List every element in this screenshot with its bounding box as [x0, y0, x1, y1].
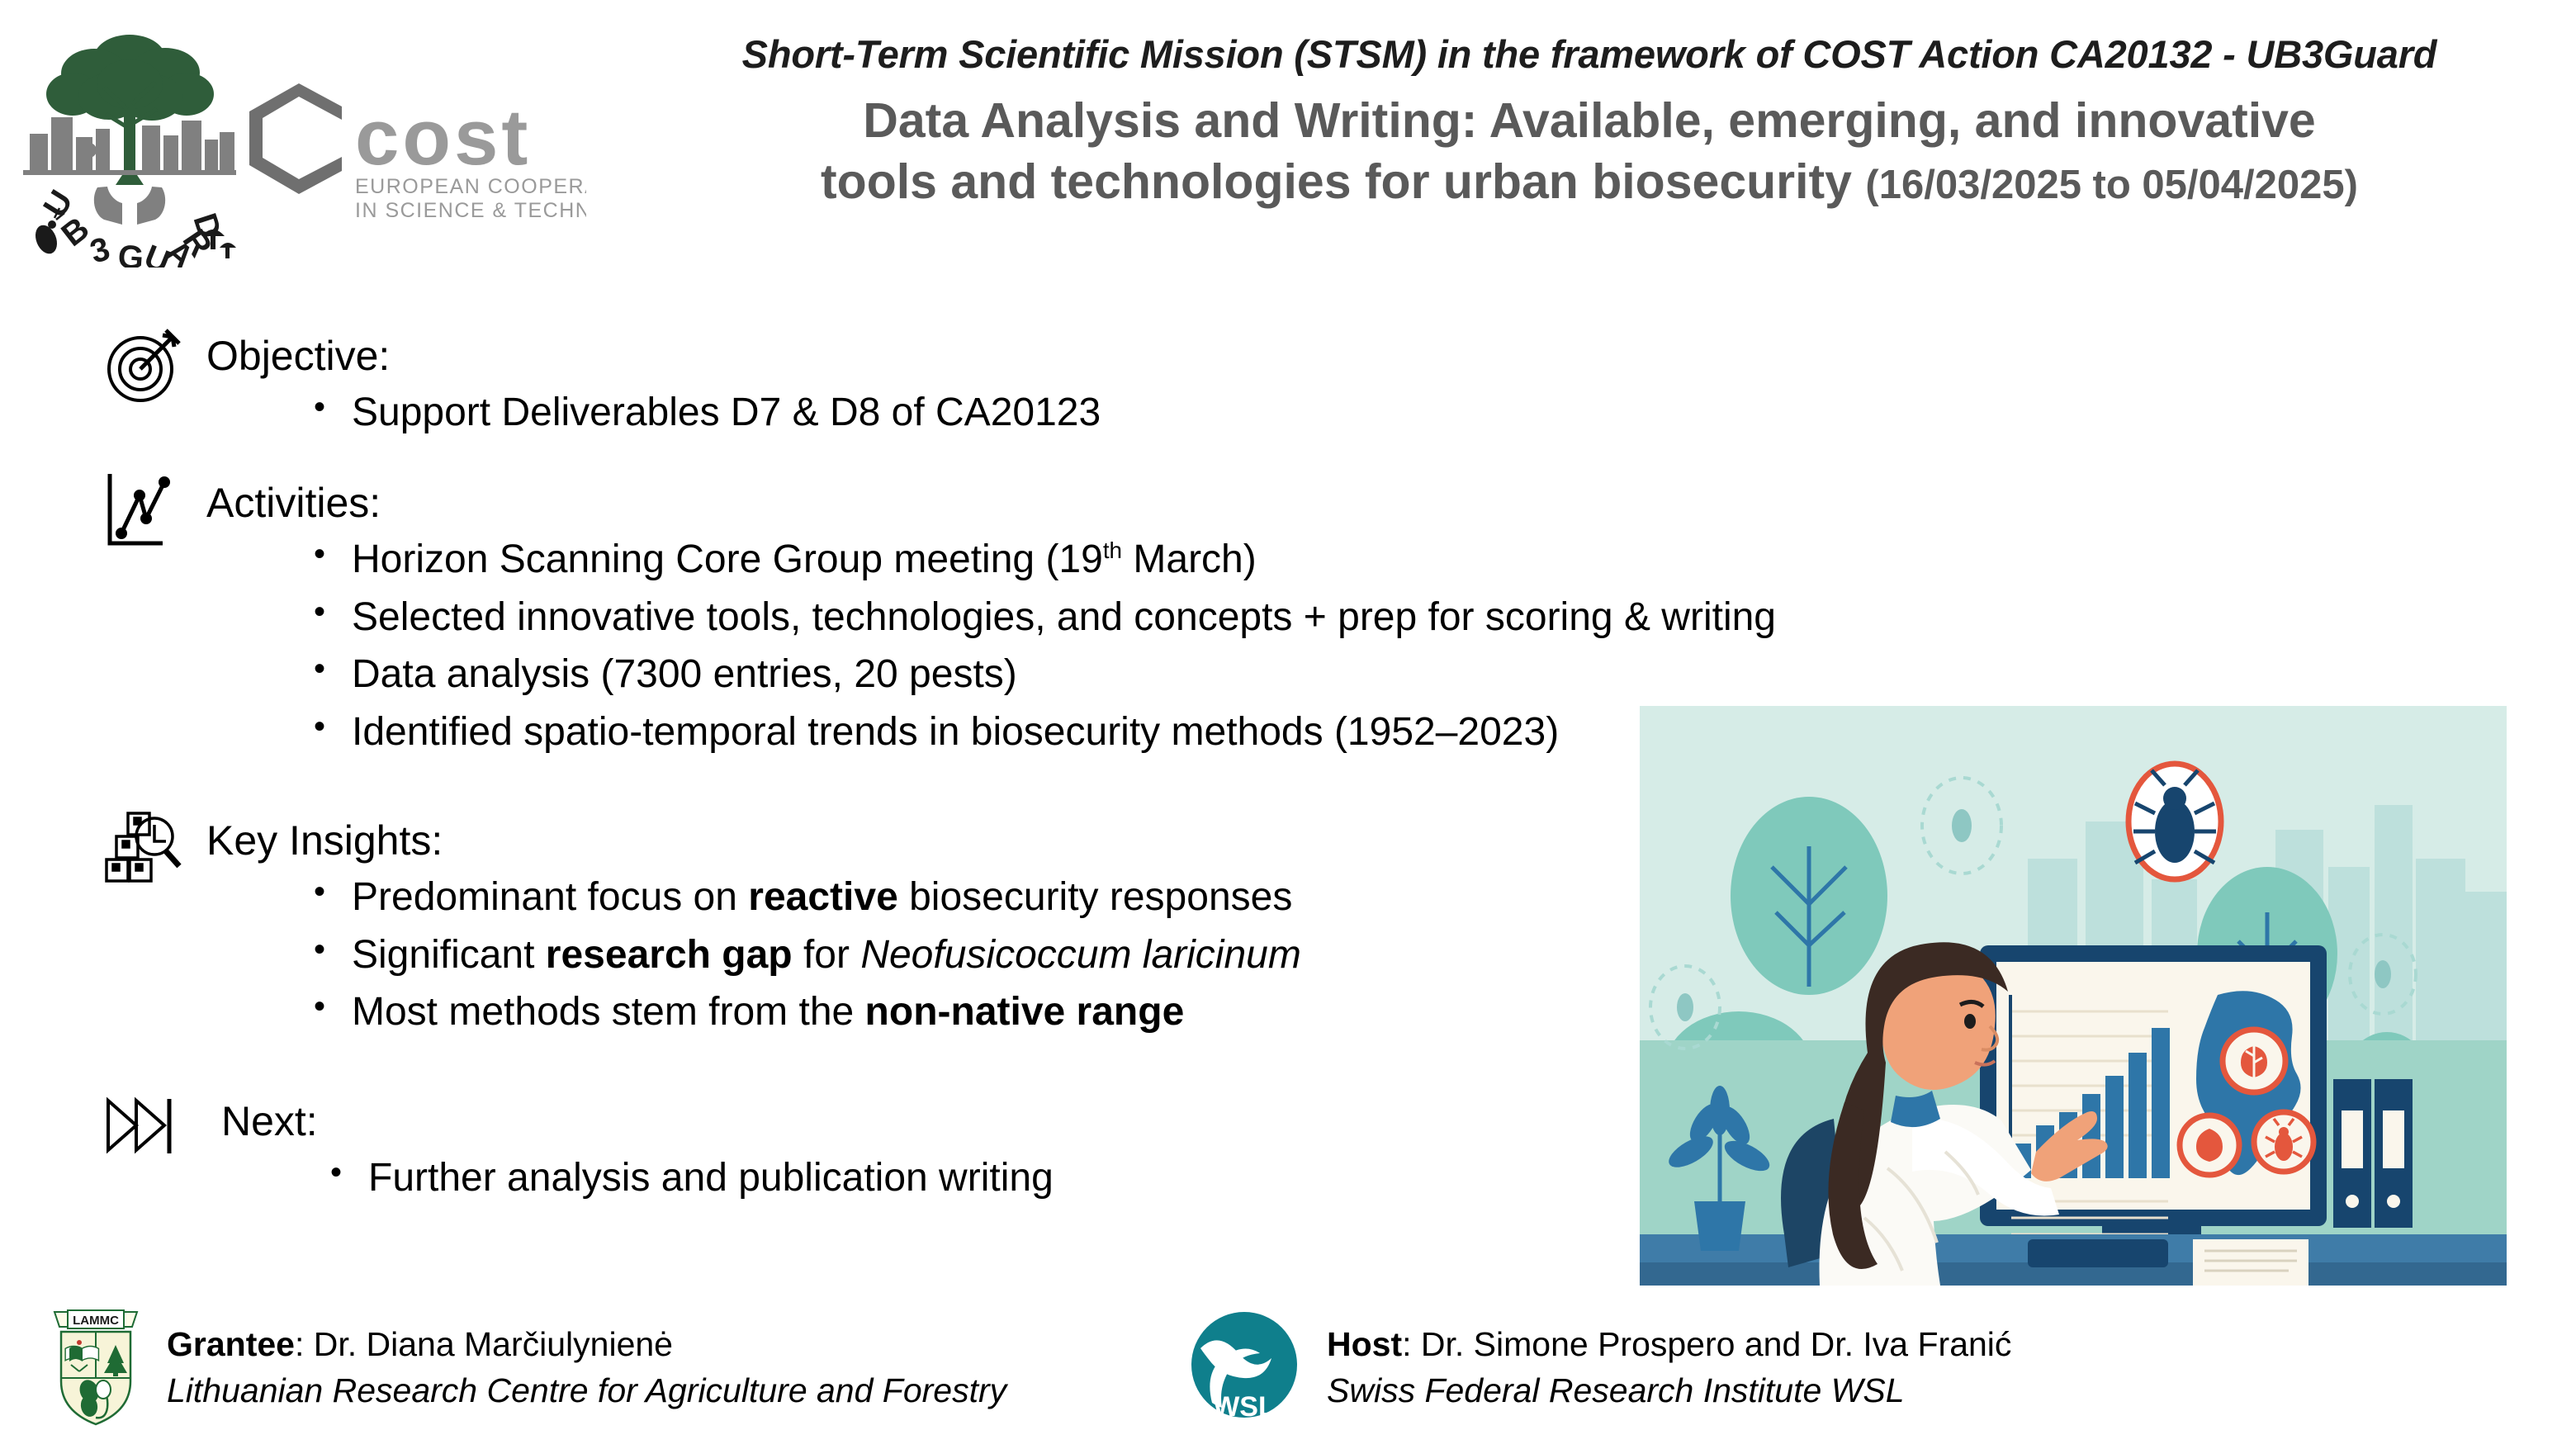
list-item: Data analysis (7300 entries, 20 pests)	[305, 650, 1651, 699]
svg-text:D: D	[186, 209, 228, 243]
fast-forward-icon	[99, 1089, 190, 1172]
objective-bullet-list: Support Deliverables D7 & D8 of CA20123	[206, 388, 1651, 438]
page-title: Data Analysis and Writing: Available, em…	[611, 91, 2568, 213]
bullet-text: Support Deliverables D7 & D8 of CA20123	[352, 391, 1101, 434]
list-item: Further analysis and publication writing	[322, 1153, 1651, 1203]
grantee-role-label: Grantee	[167, 1325, 295, 1363]
grantee-line: Grantee: Dr. Diana Marčiulynienė	[167, 1324, 1006, 1365]
bullet-text: Identified spatio-temporal trends in bio…	[352, 710, 1559, 754]
host-line: Host: Dr. Simone Prospero and Dr. Iva Fr…	[1327, 1324, 2011, 1365]
host-role-label: Host	[1327, 1325, 1402, 1363]
list-item: Support Deliverables D7 & D8 of CA20123	[305, 388, 1651, 438]
ub3guard-logo: U B 3 G U A R D	[18, 12, 241, 268]
list-item: Significant research gap for Neofusicocc…	[305, 930, 1651, 980]
lammc-logo-text: LAMMC	[73, 1314, 119, 1328]
section-next: Next: Further analysis and publication w…	[0, 1089, 1651, 1203]
bullet-emphasis: research gap	[546, 933, 793, 977]
page-title-line1: Data Analysis and Writing: Available, em…	[863, 93, 2316, 148]
lammc-crest-logo: LAMMC	[43, 1305, 149, 1432]
slide-header: U B 3 G U A R D	[0, 0, 2576, 272]
bullet-text-cont: for	[793, 933, 861, 977]
scientist-illustration	[1640, 706, 2507, 1286]
grantee-name: : Dr. Diana Marčiulynienė	[295, 1325, 673, 1363]
cost-tagline-1: EUROPEAN COOPERATION	[355, 175, 586, 198]
bullet-text: Horizon Scanning Core Group meeting (19	[352, 537, 1103, 581]
section-activities: Activities: Horizon Scanning Core Group …	[0, 471, 1651, 757]
stsm-subtitle: Short-Term Scientific Mission (STSM) in …	[611, 31, 2568, 77]
svg-text:3: 3	[86, 230, 114, 268]
page-title-line2: tools and technologies for urban biosecu…	[821, 154, 1865, 209]
list-item: Selected innovative tools, technologies,…	[305, 593, 1651, 642]
wsl-logo: WSL	[1182, 1305, 1306, 1433]
page-title-dates: (16/03/2025 to 05/04/2025)	[1865, 163, 2358, 207]
bullet-text-cont: March)	[1122, 537, 1257, 581]
grantee-institution: Lithuanian Research Centre for Agricultu…	[167, 1370, 1006, 1411]
svg-text:G: G	[116, 239, 144, 268]
wsl-logo-text: WSL	[1213, 1391, 1276, 1423]
activities-bullet-list: Horizon Scanning Core Group meeting (19t…	[206, 535, 1651, 757]
section-heading: Objective:	[206, 324, 1651, 376]
section-heading: Activities:	[206, 471, 1651, 523]
section-key-insights: Key Insights: Predominant focus on react…	[0, 808, 1651, 1037]
bullet-text: Significant	[352, 933, 546, 977]
section-heading: Next:	[206, 1089, 1651, 1142]
section-objective: Objective: Support Deliverables D7 & D8 …	[0, 324, 1651, 438]
target-icon	[99, 324, 190, 406]
bullet-text: Selected innovative tools, technologies,…	[352, 595, 1776, 639]
list-item: Predominant focus on reactive biosecurit…	[305, 873, 1651, 922]
bullet-text-cont: biosecurity responses	[898, 875, 1293, 919]
host-names: : Dr. Simone Prospero and Dr. Iva Franić	[1402, 1325, 2011, 1363]
bullet-text: Most methods stem from the	[352, 990, 865, 1034]
insights-bullet-list: Predominant focus on reactive biosecurit…	[206, 873, 1651, 1037]
cost-wordmark: cost	[355, 93, 531, 182]
host-institution: Swiss Federal Research Institute WSL	[1327, 1370, 2011, 1411]
next-bullet-list: Further analysis and publication writing	[206, 1153, 1651, 1203]
bullet-emphasis: reactive	[748, 875, 897, 919]
list-item: Horizon Scanning Core Group meeting (19t…	[305, 535, 1651, 585]
bullet-text: Predominant focus on	[352, 875, 748, 919]
line-chart-icon	[99, 471, 190, 553]
list-item: Identified spatio-temporal trends in bio…	[305, 708, 1651, 757]
slide-content: Objective: Support Deliverables D7 & D8 …	[0, 272, 1651, 1218]
cost-logo: cost EUROPEAN COOPERATION IN SCIENCE & T…	[239, 78, 586, 223]
ordinal-suffix: th	[1103, 537, 1122, 563]
bullet-text: Further analysis and publication writing	[368, 1156, 1054, 1200]
species-name: Neofusicoccum laricinum	[860, 933, 1301, 977]
header-text-block: Short-Term Scientific Mission (STSM) in …	[611, 31, 2568, 213]
slide-footer: LAMMC	[0, 1300, 2576, 1449]
boxes-magnifier-icon	[99, 808, 190, 891]
cost-tagline-2: IN SCIENCE & TECHNOLOGY	[355, 199, 586, 222]
section-heading: Key Insights:	[206, 808, 1651, 861]
bullet-emphasis: non-native range	[865, 990, 1185, 1034]
bullet-text: Data analysis (7300 entries, 20 pests)	[352, 652, 1017, 696]
host-text: Host: Dr. Simone Prospero and Dr. Iva Fr…	[1327, 1324, 2011, 1411]
list-item: Most methods stem from the non-native ra…	[305, 987, 1651, 1037]
grantee-text: Grantee: Dr. Diana Marčiulynienė Lithuan…	[167, 1324, 1006, 1411]
